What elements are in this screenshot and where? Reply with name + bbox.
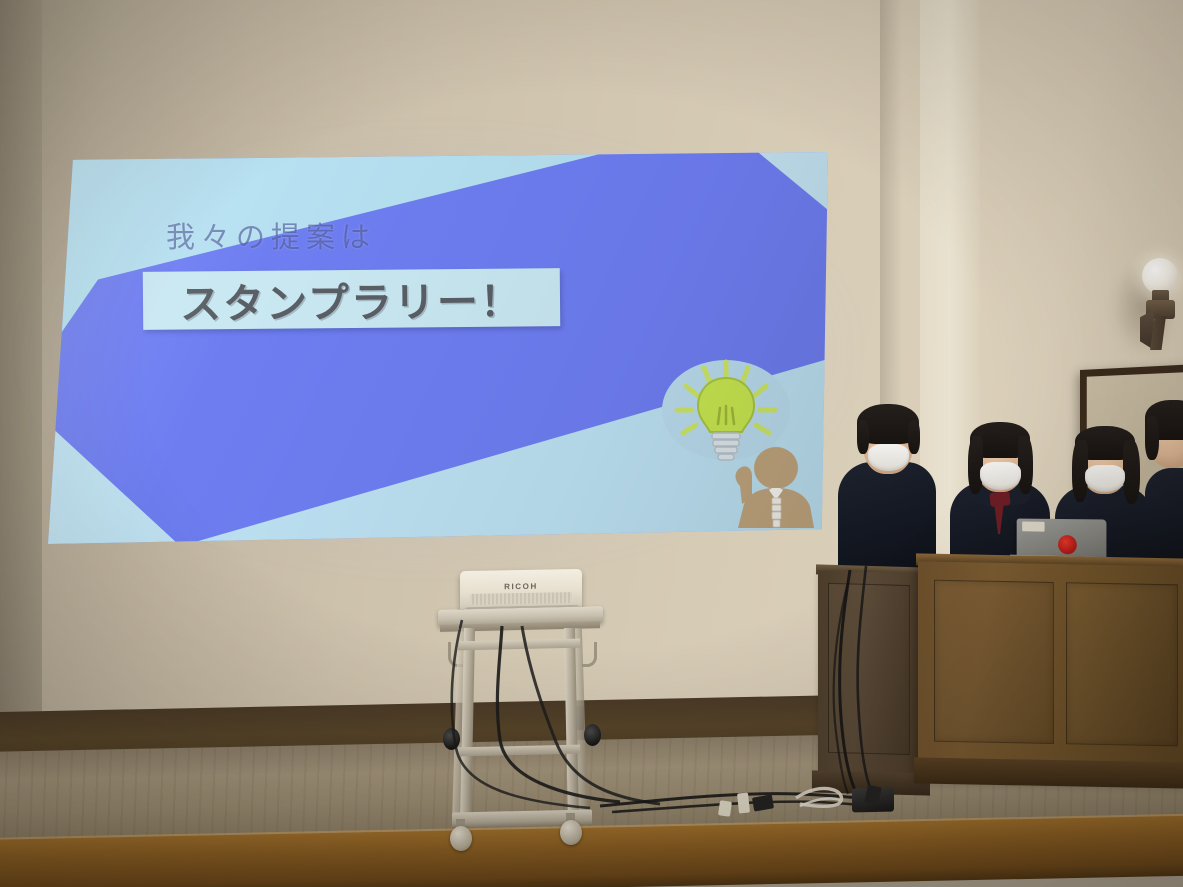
wall-left-pillar	[0, 0, 42, 760]
floor-plug-white-1	[737, 792, 750, 813]
cart-rail-upper	[458, 639, 580, 651]
projector-cart: RICOH	[438, 568, 603, 858]
wooden-paneled-desk	[918, 561, 1183, 786]
slide-headline-box: スタンプラリー！	[143, 268, 560, 330]
slide-headline: スタンプラリー！	[143, 268, 560, 330]
student-1-face-mask	[868, 444, 909, 471]
cart-hook-right	[582, 642, 597, 667]
desk-base-molding	[914, 757, 1183, 788]
cart-knob-right	[584, 724, 601, 746]
slide-clipart-businessman-idea	[658, 348, 828, 528]
cart-knob-left	[443, 728, 460, 750]
presentation-slide: 我々の提案は スタンプラリー！	[48, 152, 828, 544]
student-2-hair-right	[1018, 436, 1033, 494]
student-1-hair-side-left	[857, 420, 869, 454]
student-2-face-mask	[980, 462, 1021, 490]
slide-subtitle: 我々の提案は	[166, 214, 376, 256]
desk-panel-right	[1066, 582, 1178, 746]
student-3-hair-right	[1123, 440, 1140, 504]
floor-plug-white-2	[718, 800, 732, 817]
slide-wedge-bottom-left	[48, 424, 178, 544]
cart-caster-right	[560, 820, 582, 845]
student-4-uniform	[1145, 468, 1183, 568]
student-3-face-mask	[1085, 465, 1125, 492]
student-1-hair-side-right	[908, 420, 920, 454]
projection-screen: 我々の提案は スタンプラリー！	[48, 152, 828, 544]
laptop-sticker-red-circle	[1058, 535, 1077, 555]
student-4	[1145, 396, 1183, 566]
presentation-photo-scene: 我々の提案は スタンプラリー！	[0, 0, 1183, 887]
projector-brand-label: RICOH	[460, 581, 582, 592]
laptop-sticker-white	[1022, 522, 1044, 532]
wall-sconce	[1136, 258, 1183, 368]
student-2-hair-left	[968, 436, 983, 494]
projector-vent	[470, 592, 572, 605]
slide-wedge-top-right	[698, 152, 828, 210]
lectern-panel	[828, 583, 910, 755]
lightbulb-businessman-icon	[658, 348, 828, 528]
desk-panel-left	[934, 580, 1054, 744]
sconce-globe-icon	[1142, 258, 1178, 294]
cart-caster-left	[450, 826, 472, 851]
student-4-hair-left	[1145, 416, 1159, 460]
wooden-lectern	[818, 571, 923, 784]
cart-rail-lower	[458, 745, 580, 757]
